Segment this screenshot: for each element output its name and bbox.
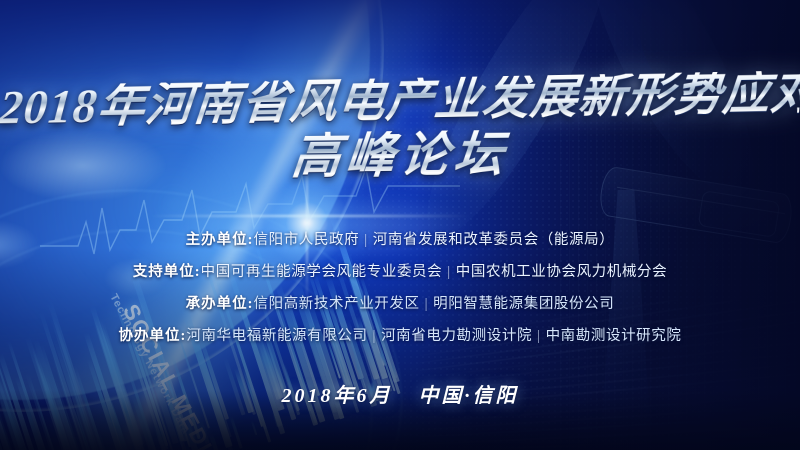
organizer-name: 中国农机工业协会风力机械分会 [456,264,667,280]
organizer-line: 支持单位:中国可再生能源学会风能专业委员会|中国农机工业协会风力机械分会 [0,260,800,281]
organizer-name: 信阳市人民政府 [254,232,360,248]
organizer-name: 河南省电力勘测设计院 [381,328,532,344]
organizer-line: 承办单位:信阳高新技术产业开发区|明阳智慧能源集团股份公司 [0,292,800,313]
organizer-separator: | [368,328,382,344]
date-location-bar: 2018年6月 中国·信阳 [0,379,800,408]
organizer-line: 主办单位:信阳市人民政府|河南省发展和改革委员会（能源局） [0,228,800,249]
organizer-name: 河南省发展和改革委员会（能源局） [373,232,615,248]
organizer-label: 主办单位: [186,232,254,248]
organizer-separator: | [420,296,434,312]
organizer-label: 承办单位: [186,296,254,312]
event-date: 2018年6月 [282,385,393,407]
organizer-name: 明阳智慧能源集团股份公司 [433,296,614,312]
organizer-separator: | [532,328,546,344]
title-line-1: 2018年河南省风电产业发展新形势应对策略 [0,70,800,132]
title-line-2: 高峰论坛 [0,127,800,184]
organizer-name: 中国可再生能源学会风能专业委员会 [201,264,443,280]
organizer-list: 主办单位:信阳市人民政府|河南省发展和改革委员会（能源局）支持单位:中国可再生能… [0,228,800,356]
organizer-separator: | [442,264,456,280]
organizer-name: 信阳高新技术产业开发区 [254,296,420,312]
conference-poster: SOCIAL MEDIA Technology Network Data 201… [0,0,800,450]
organizer-name: 河南华电福新能源有限公司 [186,328,367,344]
organizer-separator: | [359,232,373,248]
organizer-label: 支持单位: [133,264,201,280]
organizer-line: 协办单位:河南华电福新能源有限公司|河南省电力勘测设计院|中南勘测设计研究院 [0,324,800,345]
poster-content: 2018年河南省风电产业发展新形势应对策略 高峰论坛 主办单位:信阳市人民政府|… [0,0,800,450]
poster-title: 2018年河南省风电产业发展新形势应对策略 高峰论坛 [0,78,800,180]
event-location: 中国·信阳 [419,385,519,407]
organizer-label: 协办单位: [119,328,187,344]
organizer-name: 中南勘测设计研究院 [546,328,682,344]
